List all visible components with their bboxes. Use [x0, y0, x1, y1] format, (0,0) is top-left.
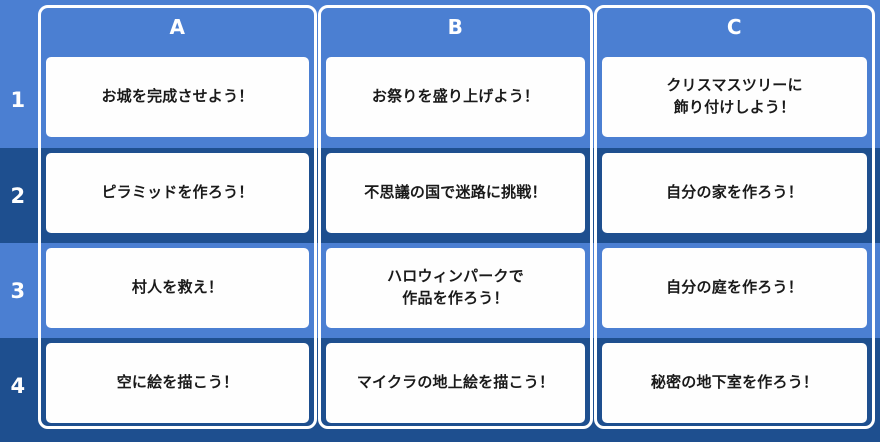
- grid-cell-label: ハロウィンパークで 作品を作ろう！: [387, 266, 524, 310]
- grid-cell-b4[interactable]: マイクラの地上絵を描こう！: [326, 343, 585, 423]
- row-header-1[interactable]: 1: [0, 52, 36, 148]
- grid-cell-label: クリスマスツリーに 飾り付けしよう！: [666, 75, 802, 119]
- grid-cell-label: お祭りを盛り上げよう！: [372, 86, 539, 108]
- grid-cell-b1[interactable]: お祭りを盛り上げよう！: [326, 57, 585, 137]
- row-header-4[interactable]: 4: [0, 338, 36, 434]
- grid-cell-label: マイクラの地上絵を描こう！: [357, 372, 554, 394]
- row-header-2[interactable]: 2: [0, 148, 36, 243]
- column-header-a[interactable]: A: [38, 5, 317, 49]
- grid-cell-b3[interactable]: ハロウィンパークで 作品を作ろう！: [326, 248, 585, 328]
- grid-cell-a3[interactable]: 村人を救え！: [46, 248, 309, 328]
- column-header-b[interactable]: B: [318, 5, 593, 49]
- grid-cell-label: 自分の庭を作ろう！: [666, 277, 803, 299]
- footer-band: [0, 434, 880, 442]
- row-header-3[interactable]: 3: [0, 243, 36, 338]
- mission-grid-board: A B C 1 2 3 4 お城を完成させよう！ お祭りを盛り上げよう！ クリス…: [0, 0, 880, 442]
- grid-cell-label: ピラミッドを作ろう！: [101, 182, 253, 204]
- grid-cell-c2[interactable]: 自分の家を作ろう！: [602, 153, 867, 233]
- column-header-c[interactable]: C: [594, 5, 875, 49]
- grid-cell-a1[interactable]: お城を完成させよう！: [46, 57, 309, 137]
- grid-cell-a4[interactable]: 空に絵を描こう！: [46, 343, 309, 423]
- grid-cell-label: お城を完成させよう！: [101, 86, 253, 108]
- grid-cell-label: 秘密の地下室を作ろう！: [651, 372, 818, 394]
- grid-cell-c1[interactable]: クリスマスツリーに 飾り付けしよう！: [602, 57, 867, 137]
- grid-cell-label: 空に絵を描こう！: [117, 372, 239, 394]
- grid-cell-a2[interactable]: ピラミッドを作ろう！: [46, 153, 309, 233]
- grid-cell-b2[interactable]: 不思議の国で迷路に挑戦！: [326, 153, 585, 233]
- grid-cell-c4[interactable]: 秘密の地下室を作ろう！: [602, 343, 867, 423]
- grid-cell-c3[interactable]: 自分の庭を作ろう！: [602, 248, 867, 328]
- grid-cell-label: 村人を救え！: [132, 277, 223, 299]
- grid-cell-label: 自分の家を作ろう！: [666, 182, 803, 204]
- grid-cell-label: 不思議の国で迷路に挑戦！: [364, 182, 546, 204]
